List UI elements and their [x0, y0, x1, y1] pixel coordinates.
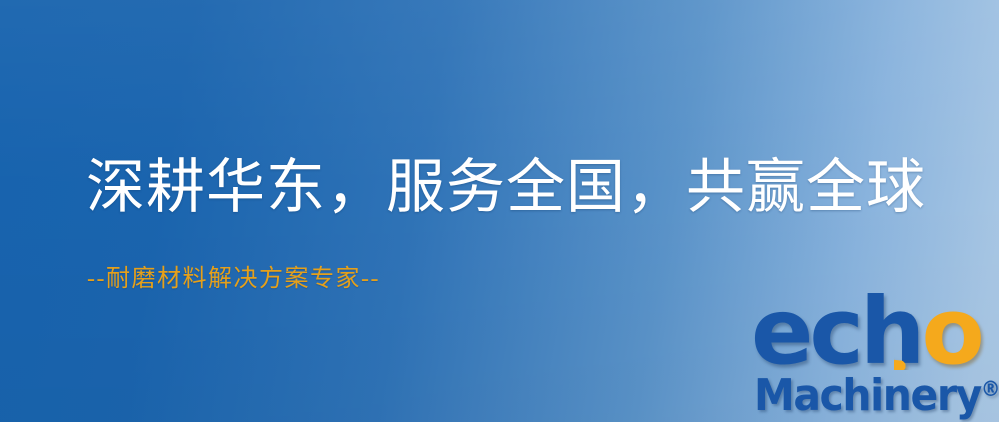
- logo-machinery-text: Machinery®: [754, 366, 999, 419]
- echo-machinery-logo[interactable]: echo Machinery®: [746, 296, 999, 422]
- banner-headline: 深耕华东，服务全国，共赢全球: [86, 152, 926, 222]
- registered-mark: ®: [981, 377, 999, 401]
- hero-banner: 深耕华东，服务全国，共赢全球 --耐磨材料解决方案专家-- echo Machi…: [0, 0, 999, 422]
- signal-waves-icon: [894, 292, 999, 370]
- logo-wordmark: echo: [746, 296, 999, 376]
- logo-machinery-word: Machinery: [754, 370, 981, 421]
- banner-subheadline: --耐磨材料解决方案专家--: [87, 264, 380, 294]
